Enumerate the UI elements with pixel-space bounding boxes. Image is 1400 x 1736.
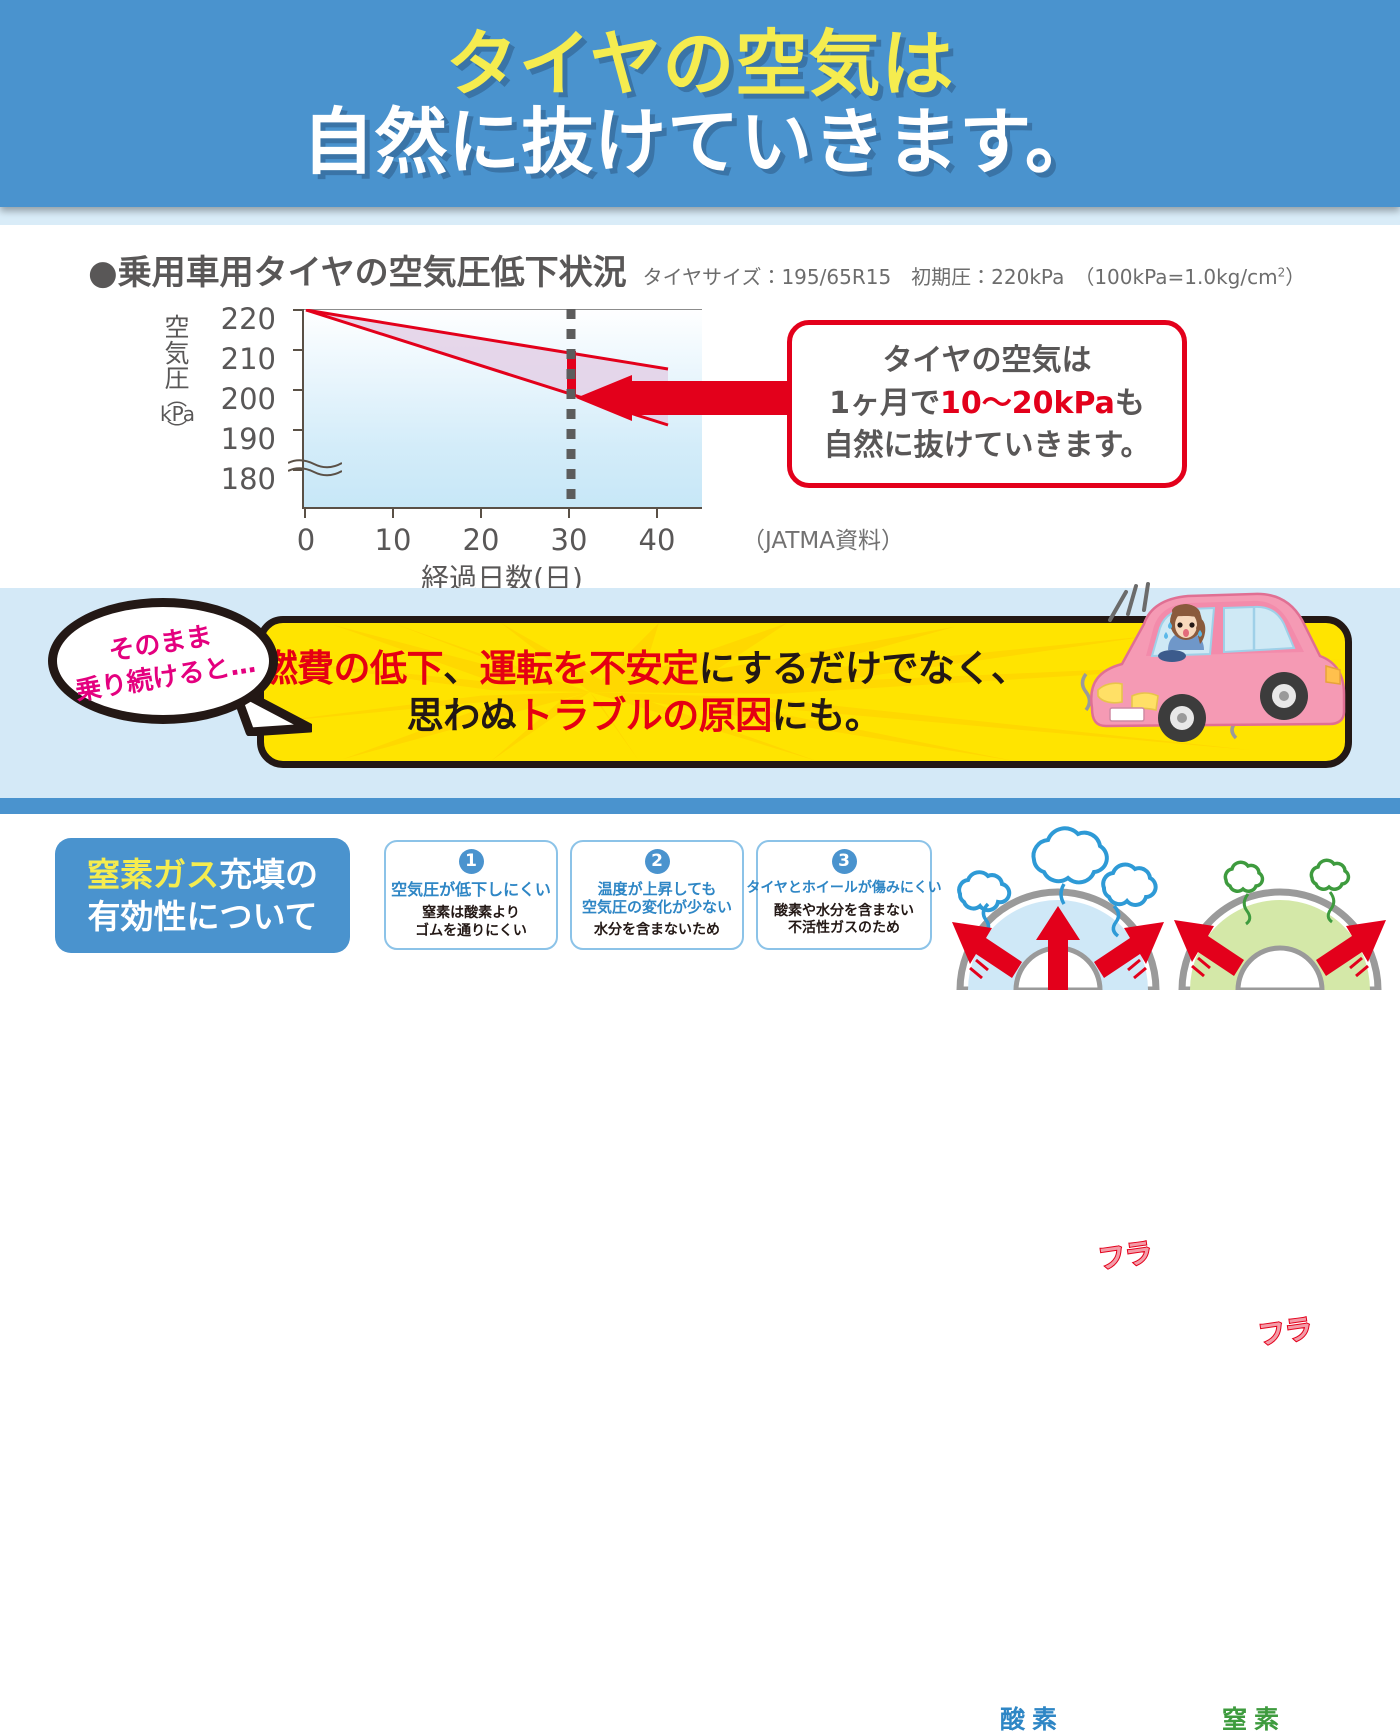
- page-header: タイヤの空気は 自然に抜けていきます。: [0, 0, 1400, 207]
- oxygen-tire-diagram: [952, 828, 1164, 990]
- callout-line2-pre: 1ヶ月で: [829, 386, 940, 421]
- banner-line2-pre: 思わぬ: [407, 694, 517, 737]
- warning-banner-text: 燃費の低下、運転を不安定にするだけでなく、 思わぬトラブルの原因にも。: [264, 623, 1024, 761]
- nitrogen-section: 窒素ガス充填の 有効性について 1 空気圧が低下しにくい 窒素は酸素より ゴムを…: [0, 814, 1400, 990]
- card-number-badge: 2: [645, 849, 670, 874]
- nitrogen-title-badge: 窒素ガス充填の 有効性について: [55, 838, 350, 953]
- nitrogen-label: 窒素: [1222, 1700, 1286, 1736]
- x-tick-10: 10: [375, 526, 412, 555]
- benefit-cards: 1 空気圧が低下しにくい 窒素は酸素より ゴムを通りにくい 2 温度が上昇しても…: [384, 840, 932, 950]
- card-heading-line-2: 空気圧の変化が少ない: [582, 898, 732, 916]
- card-body: 窒素は酸素より ゴムを通りにくい: [415, 905, 527, 940]
- bottom-divider-rule: [0, 798, 1400, 814]
- card-body-line-1: 水分を含まないため: [594, 922, 720, 940]
- subtitle-prefix: タイヤサイズ：195/65R15 初期圧：220kPa （100kPa=1.0k…: [643, 265, 1278, 289]
- card-body: 酸素や水分を含まない 不活性ガスのため: [774, 903, 914, 938]
- card-heading: 温度が上昇しても 空気圧の変化が少ない: [582, 880, 732, 916]
- gas-permeation-diagrams: [938, 814, 1400, 990]
- card-heading: タイヤとホイールが傷みにくい: [746, 880, 941, 897]
- y-axis-title-text: 空気圧: [164, 313, 189, 393]
- y-tick-210: 210: [198, 345, 276, 374]
- card-body-line-1: 酸素や水分を含まない: [774, 903, 914, 921]
- callout-line-1: タイヤの空気は: [882, 340, 1091, 383]
- x-tick-20: 20: [463, 526, 500, 555]
- x-tickmark-20: [480, 507, 482, 518]
- card-body-line-2: 不活性ガスのため: [774, 920, 914, 938]
- header-bottom-strip: [0, 207, 1400, 225]
- chart-source-note: （JATMA資料）: [742, 521, 904, 555]
- wobble-sfx-right: フラ: [1256, 1306, 1315, 1352]
- header-title-line1: タイヤの空気は: [446, 27, 955, 103]
- chart-y-axis-title: 空気圧 ︵ kPa ︶: [160, 315, 194, 436]
- subtitle-suffix: ）: [1285, 265, 1305, 289]
- nitrogen-title-line-2: 有効性について: [87, 896, 317, 937]
- callout-line-2: 1ヶ月で10〜20kPaも: [829, 383, 1145, 426]
- callout-box: タイヤの空気は 1ヶ月で10〜20kPaも 自然に抜けていきます。: [787, 320, 1187, 488]
- speech-bubble: そのまま 乗り続けると…: [48, 598, 300, 738]
- header-title-line2: 自然に抜けていきます。: [302, 105, 1098, 181]
- nitrogen-title-accent: 窒素ガス: [87, 855, 219, 894]
- banner-mid: 、: [443, 647, 480, 690]
- card-body: 水分を含まないため: [594, 922, 720, 940]
- card-body-line-1: 窒素は酸素より: [415, 905, 527, 923]
- benefit-card-1[interactable]: 1 空気圧が低下しにくい 窒素は酸素より ゴムを通りにくい: [384, 840, 558, 950]
- section-heading-row: ●乗用車用タイヤの空気圧低下状況 タイヤサイズ：195/65R15 初期圧：22…: [88, 245, 1305, 294]
- x-tick-30: 30: [551, 526, 588, 555]
- banner-red-3: トラブルの原因: [516, 694, 772, 737]
- card-heading: 空気圧が低下しにくい: [391, 880, 551, 899]
- y-tickmark-190: [293, 429, 304, 431]
- y-tick-180: 180: [198, 465, 276, 494]
- nitrogen-tire-diagram: [1174, 860, 1386, 990]
- x-tick-40: 40: [639, 526, 676, 555]
- y-tick-220: 220: [198, 305, 276, 334]
- x-tick-0: 0: [297, 526, 315, 555]
- y-tickmark-200: [293, 389, 304, 391]
- callout-line-3: 自然に抜けていきます。: [824, 425, 1151, 468]
- x-tickmark-40: [656, 507, 658, 518]
- warning-banner-section: 燃費の低下、運転を不安定にするだけでなく、 思わぬトラブルの原因にも。 そのまま…: [0, 588, 1400, 798]
- banner-line-2: 思わぬトラブルの原因にも。: [407, 692, 882, 739]
- banner-line2-post: にも。: [772, 694, 882, 737]
- benefit-card-2[interactable]: 2 温度が上昇しても 空気圧の変化が少ない 水分を含まないため: [570, 840, 744, 950]
- y-tick-190: 190: [198, 425, 276, 454]
- oxygen-label: 酸素: [1000, 1700, 1064, 1736]
- banner-tail: にするだけでなく、: [699, 647, 1028, 690]
- y-tickmark-210: [293, 349, 304, 351]
- x-tickmark-30: [568, 507, 570, 518]
- one-month-dashed-line: [567, 309, 576, 507]
- y-tickmark-220: [293, 309, 304, 311]
- callout-highlight-value: 10〜20kPa: [940, 386, 1115, 421]
- benefit-card-3[interactable]: 3 タイヤとホイールが傷みにくい 酸素や水分を含まない 不活性ガスのため: [756, 840, 932, 950]
- section-title: ●乗用車用タイヤの空気圧低下状況: [88, 245, 627, 294]
- nitrogen-title-line-1: 窒素ガス充填の: [87, 854, 318, 895]
- x-tickmark-10: [392, 507, 394, 518]
- callout-pointer-arrow: [576, 375, 794, 421]
- callout-line2-post: も: [1115, 386, 1145, 421]
- banner-line-1: 燃費の低下、運転を不安定にするだけでなく、: [261, 645, 1028, 692]
- chart-section: ●乗用車用タイヤの空気圧低下状況 タイヤサイズ：195/65R15 初期圧：22…: [0, 225, 1400, 588]
- nitrogen-title-rest: 充填の: [219, 855, 318, 894]
- card-number-badge: 3: [832, 849, 857, 874]
- y-tick-200: 200: [198, 385, 276, 414]
- x-tickmark-0: [304, 507, 306, 518]
- card-body-line-2: ゴムを通りにくい: [415, 923, 527, 941]
- card-number-badge: 1: [459, 849, 484, 874]
- section-subtitle: タイヤサイズ：195/65R15 初期圧：220kPa （100kPa=1.0k…: [643, 261, 1306, 290]
- banner-red-2: 運転を不安定: [480, 647, 699, 690]
- pressure-decay-chart: 空気圧 ︵ kPa ︶ 220 210 200 190 180: [150, 295, 750, 575]
- wobble-sfx-left: フラ: [1096, 1230, 1155, 1276]
- card-heading-line-1: 温度が上昇しても: [582, 880, 732, 898]
- wobbling-car-illustration: [1048, 578, 1368, 778]
